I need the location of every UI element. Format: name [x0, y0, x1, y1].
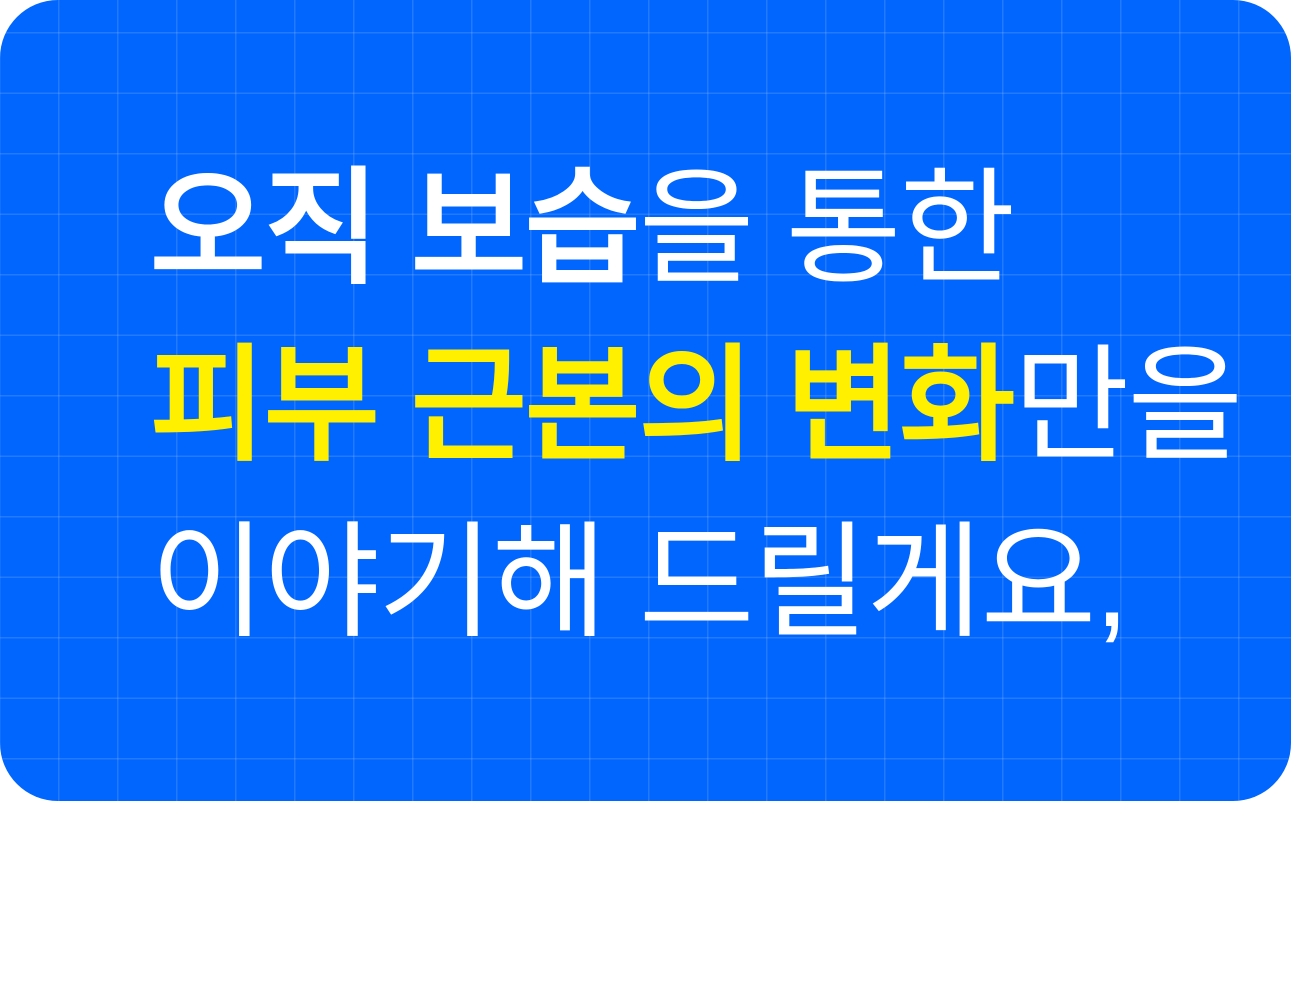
screenshot-stage: 오직 보습을 통한 피부 근본의 변화만을 이야기해 드릴게요, [0, 0, 1300, 1000]
headline-line-2-tail: 만을 [1013, 335, 1241, 476]
hero-banner-card: 오직 보습을 통한 피부 근본의 변화만을 이야기해 드릴게요, [0, 0, 1291, 801]
headline-line-2: 피부 근본의 변화만을 [150, 317, 1250, 494]
headline-line-3: 이야기해 드릴게요, [150, 494, 1250, 671]
headline-line-1: 오직 보습을 통한 [150, 140, 1250, 317]
headline-block: 오직 보습을 통한 피부 근본의 변화만을 이야기해 드릴게요, [150, 140, 1250, 671]
headline-line-1-tail: 을 통한 [639, 158, 1014, 299]
headline-line-1-emphasis: 오직 보습 [150, 158, 639, 299]
headline-line-3-text: 이야기해 드릴게요, [150, 512, 1127, 653]
headline-line-2-emphasis: 피부 근본의 변화 [150, 335, 1013, 476]
